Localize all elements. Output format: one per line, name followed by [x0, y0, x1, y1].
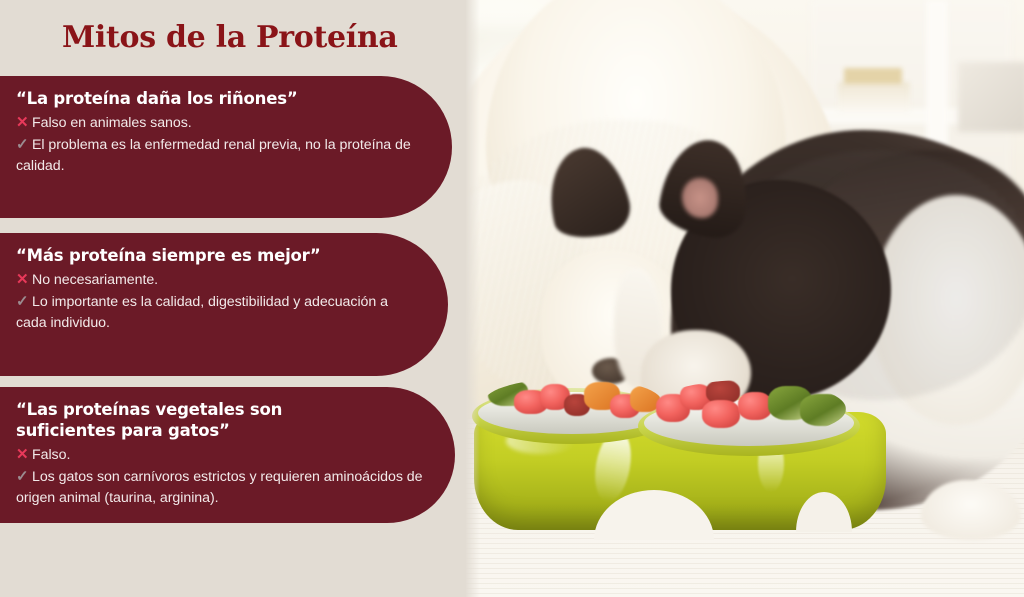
books-top-item	[844, 68, 902, 84]
zucchini-piece	[800, 394, 846, 426]
books-stack	[838, 82, 910, 112]
myth-card[interactable]: “La proteína daña los riñones” ✕Falso en…	[0, 76, 452, 218]
x-icon: ✕	[16, 444, 32, 466]
page-title: Mitos de la Proteína	[62, 20, 398, 55]
myth-heading: “Más proteína siempre es mejor”	[16, 245, 422, 266]
cat-inner-ear	[682, 178, 718, 218]
food-left	[484, 378, 662, 426]
myth-true-text: Lo importante es la calidad, digestibili…	[16, 294, 388, 331]
myth-true-line: ✓Lo importante es la calidad, digestibil…	[16, 291, 422, 333]
myth-true-line: ✓El problema es la enfermedad renal prev…	[16, 134, 426, 176]
check-icon: ✓	[16, 466, 32, 488]
infographic-root: Mitos de la Proteína “La proteína daña l…	[0, 0, 1024, 597]
storage-basket	[958, 62, 1024, 132]
x-icon: ✕	[16, 112, 32, 134]
food-right	[650, 380, 846, 438]
x-icon: ✕	[16, 269, 32, 291]
check-icon: ✓	[16, 134, 32, 156]
myth-false-text: Falso en animales sanos.	[32, 115, 192, 131]
myth-true-text: El problema es la enfermedad renal previ…	[16, 137, 411, 174]
text-panel: Mitos de la Proteína “La proteína daña l…	[0, 0, 466, 597]
myth-card[interactable]: “Las proteínas vegetales son suficientes…	[0, 387, 455, 523]
myth-false-line: ✕No necesariamente.	[16, 269, 422, 291]
myth-card[interactable]: “Más proteína siempre es mejor” ✕No nece…	[0, 233, 448, 376]
myth-false-text: Falso.	[32, 447, 70, 463]
myth-false-text: No necesariamente.	[32, 272, 158, 288]
meat-chunk	[702, 400, 740, 428]
check-icon: ✓	[16, 291, 32, 313]
myth-true-line: ✓Los gatos son carnívoros estrictos y re…	[16, 466, 429, 508]
myth-heading: “Las proteínas vegetales son suficientes…	[16, 399, 429, 441]
myth-true-text: Los gatos son carnívoros estrictos y req…	[16, 469, 422, 506]
myth-heading: “La proteína daña los riñones”	[16, 88, 426, 109]
pet-food-photo	[466, 0, 1024, 597]
meat-chunk	[738, 392, 772, 420]
photo-edge-blend	[466, 0, 480, 597]
myth-false-line: ✕Falso en animales sanos.	[16, 112, 426, 134]
double-pet-bowl	[466, 370, 896, 550]
myth-false-line: ✕Falso.	[16, 444, 429, 466]
